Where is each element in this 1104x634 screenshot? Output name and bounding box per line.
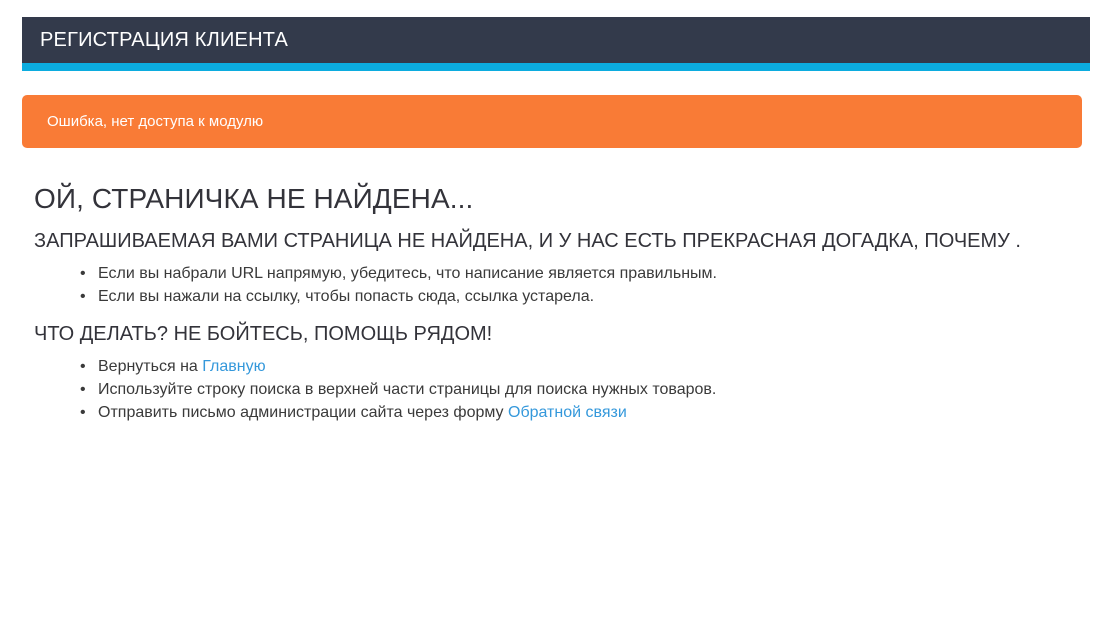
actions-list: Вернуться на Главную Используйте строку … [34, 355, 1074, 424]
search-action-text: Используйте строку поиска в верхней част… [98, 381, 716, 398]
list-item-search: Используйте строку поиска в верхней част… [80, 378, 1074, 401]
not-found-subheading: ЗАПРАШИВАЕМАЯ ВАМИ СТРАНИЦА НЕ НАЙДЕНА, … [34, 228, 1024, 254]
reasons-list: Если вы набрали URL напрямую, убедитесь,… [34, 262, 1074, 308]
home-link[interactable]: Главную [202, 358, 265, 375]
page-header: РЕГИСТРАЦИЯ КЛИЕНТА [22, 17, 1090, 63]
reason-text: Если вы нажали на ссылку, чтобы попасть … [98, 288, 594, 305]
error-alert-message: Ошибка, нет доступа к модулю [47, 112, 263, 132]
page-title: РЕГИСТРАЦИЯ КЛИЕНТА [40, 28, 288, 52]
feedback-action-prefix: Отправить письмо администрации сайта чер… [98, 404, 508, 421]
list-item-feedback: Отправить письмо администрации сайта чер… [80, 401, 1074, 424]
error-content: ОЙ, СТРАНИЧКА НЕ НАЙДЕНА... ЗАПРАШИВАЕМА… [34, 180, 1074, 424]
header-accent-bar [22, 63, 1090, 71]
not-found-heading: ОЙ, СТРАНИЧКА НЕ НАЙДЕНА... [34, 180, 1074, 218]
help-heading: ЧТО ДЕЛАТЬ? НЕ БОЙТЕСЬ, ПОМОЩЬ РЯДОМ! [34, 321, 1074, 347]
list-item-home: Вернуться на Главную [80, 355, 1074, 378]
home-action-prefix: Вернуться на [98, 358, 202, 375]
list-item: Если вы нажали на ссылку, чтобы попасть … [80, 285, 1074, 308]
error-alert: Ошибка, нет доступа к модулю [22, 95, 1082, 148]
feedback-link[interactable]: Обратной связи [508, 404, 627, 421]
reason-text: Если вы набрали URL напрямую, убедитесь,… [98, 265, 717, 282]
page-root: РЕГИСТРАЦИЯ КЛИЕНТА Ошибка, нет доступа … [0, 0, 1104, 634]
list-item: Если вы набрали URL напрямую, убедитесь,… [80, 262, 1074, 285]
